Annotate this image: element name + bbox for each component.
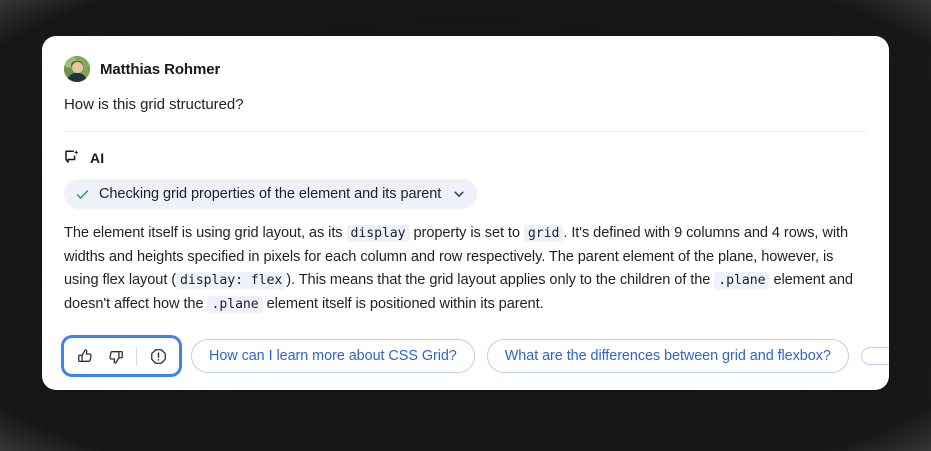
report-icon[interactable]	[144, 343, 172, 369]
user-message-text: How is this grid structured?	[64, 96, 867, 113]
inline-code: display: flex	[176, 272, 286, 289]
ai-sparkle-icon	[64, 149, 81, 166]
ai-label: AI	[90, 150, 104, 166]
ai-response-text: The element itself is using grid layout,…	[64, 222, 867, 316]
inline-code: .plane	[714, 272, 769, 289]
chevron-down-icon[interactable]	[452, 187, 466, 201]
user-message: Matthias Rohmer How is this grid structu…	[42, 36, 889, 132]
suggestion-chip[interactable]: What are the differences between grid an…	[487, 339, 849, 373]
inline-code: grid	[524, 225, 563, 242]
action-row: How can I learn more about CSS Grid? Wha…	[42, 338, 889, 374]
status-chip-text: Checking grid properties of the element …	[99, 186, 441, 202]
thumbs-down-icon[interactable]	[101, 343, 129, 369]
suggestion-chip-list: How can I learn more about CSS Grid? Wha…	[191, 339, 889, 373]
user-avatar-photo	[64, 56, 90, 82]
feedback-button-group[interactable]	[64, 338, 179, 374]
inline-code: .plane	[207, 296, 262, 313]
status-chip[interactable]: Checking grid properties of the element …	[64, 179, 477, 209]
user-name: Matthias Rohmer	[100, 61, 220, 78]
feedback-divider	[136, 347, 137, 366]
ai-message: AI Checking grid properties of the eleme…	[42, 132, 889, 316]
ai-message-header: AI	[64, 149, 867, 166]
check-icon	[75, 187, 90, 202]
suggestion-chip[interactable]: How can I learn more about CSS Grid?	[191, 339, 475, 373]
thumbs-up-icon[interactable]	[71, 343, 99, 369]
inline-code: display	[347, 225, 410, 242]
suggestion-chip[interactable]	[861, 347, 889, 365]
chat-card: Matthias Rohmer How is this grid structu…	[42, 36, 889, 390]
user-message-header: Matthias Rohmer	[64, 56, 867, 82]
